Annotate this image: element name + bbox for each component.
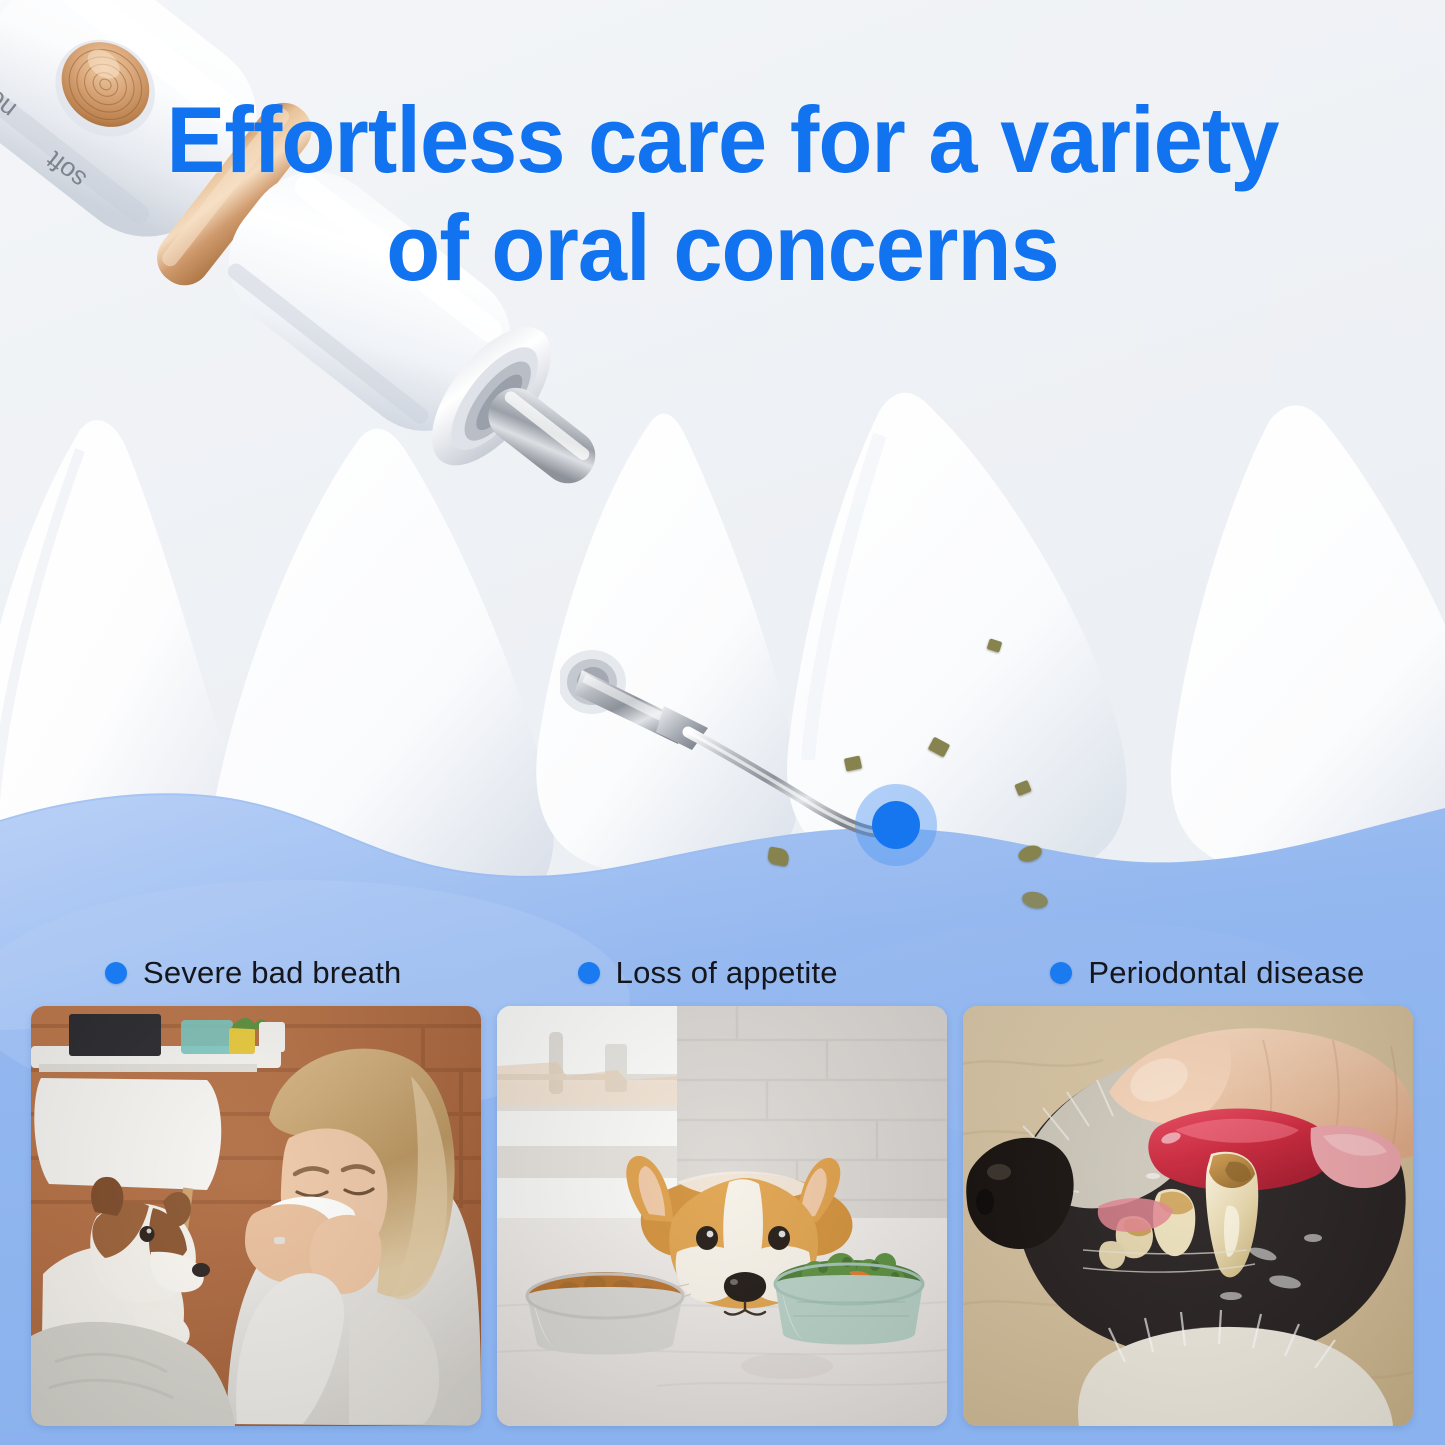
bullet-dot-icon — [1050, 962, 1072, 984]
photo-card-severe-bad-breath — [31, 1006, 481, 1426]
photo-card-periodontal-disease — [963, 1006, 1413, 1426]
product-marketing-image: normal normal soft — [0, 0, 1445, 1445]
treatment-point-indicator — [855, 784, 937, 866]
caption-loss-of-appetite: Loss of appetite — [578, 950, 973, 996]
symptom-photo-cards — [0, 1006, 1445, 1431]
ultrasonic-scaler-device: normal normal soft — [0, 0, 750, 740]
caption-severe-bad-breath: Severe bad breath — [105, 950, 500, 996]
caption-label: Loss of appetite — [616, 955, 838, 991]
photo-card-loss-of-appetite — [497, 1006, 947, 1426]
caption-periodontal-disease: Periodontal disease — [1050, 950, 1445, 996]
bullet-dot-icon — [105, 962, 127, 984]
caption-label: Periodontal disease — [1088, 955, 1364, 991]
caption-label: Severe bad breath — [143, 955, 401, 991]
bullet-dot-icon — [578, 962, 600, 984]
symptom-caption-row: Severe bad breath Loss of appetite Perio… — [0, 950, 1445, 996]
